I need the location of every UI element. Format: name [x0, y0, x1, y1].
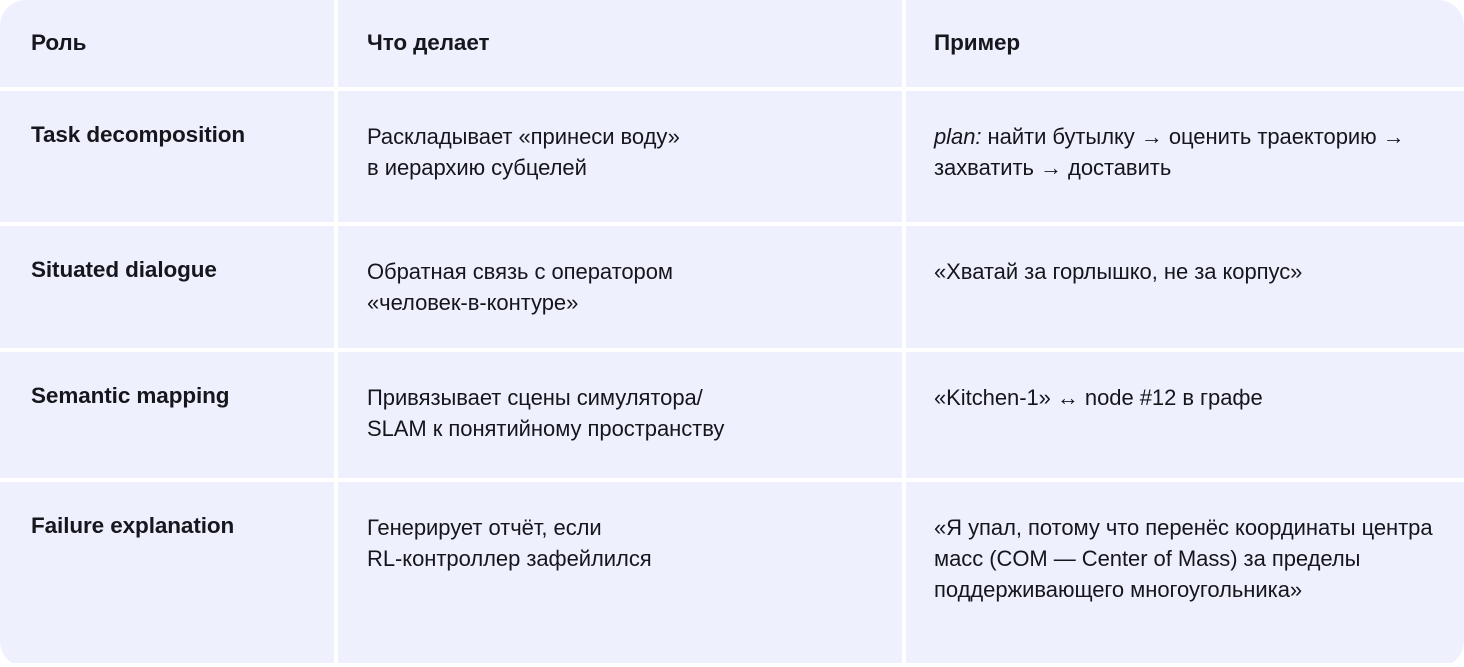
table-row: Обратная связь с оператором «человек-в-к… — [338, 226, 902, 348]
table-row: «Я упал, потому что перенёс координаты ц… — [906, 482, 1464, 663]
cell-example-prefix: plan: — [934, 124, 981, 149]
table-row: «Хватай за горлышко, не за корпус» — [906, 226, 1464, 348]
cell-example: «Хватай за горлышко, не за корпус» — [934, 256, 1302, 287]
table-row: Task decomposition — [0, 91, 334, 222]
table-header-cell-does: Что делает — [338, 0, 902, 87]
table-header-cell-role: Роль — [0, 0, 334, 87]
cell-example: «Kitchen-1» ↔ node #12 в графе — [934, 382, 1263, 413]
table-header-cell-example: Пример — [906, 0, 1464, 87]
cell-example: «Я упал, потому что перенёс координаты ц… — [934, 512, 1448, 606]
table-row: Генерирует отчёт, если RL-контроллер заф… — [338, 482, 902, 663]
cell-role: Failure explanation — [31, 512, 234, 541]
table-row: Situated dialogue — [0, 226, 334, 348]
cell-description: Генерирует отчёт, если RL-контроллер заф… — [367, 512, 652, 574]
column-header-does: Что делает — [367, 29, 489, 58]
cell-example-text: найти бутылку → оценить траекторию → зах… — [934, 124, 1405, 180]
comparison-table-card: Роль Что делает Пример Task decompositio… — [0, 0, 1464, 667]
column-header-role: Роль — [31, 29, 86, 58]
cell-description: Обратная связь с оператором «человек-в-к… — [367, 256, 673, 318]
cell-role: Task decomposition — [31, 121, 245, 150]
cell-role: Situated dialogue — [31, 256, 217, 285]
cell-description: Раскладывает «принеси воду» в иерархию с… — [367, 121, 680, 183]
table-row: Failure explanation — [0, 482, 334, 663]
table-row: plan: найти бутылку → оценить траекторию… — [906, 91, 1464, 222]
table-row: «Kitchen-1» ↔ node #12 в графе — [906, 352, 1464, 478]
cell-role: Semantic mapping — [31, 382, 229, 411]
cell-description: Привязывает сцены симулятора/ SLAM к пон… — [367, 382, 724, 444]
column-header-example: Пример — [934, 29, 1020, 58]
table-row: Привязывает сцены симулятора/ SLAM к пон… — [338, 352, 902, 478]
table-row: Semantic mapping — [0, 352, 334, 478]
comparison-table: Роль Что делает Пример Task decompositio… — [0, 0, 1464, 667]
cell-example: plan: найти бутылку → оценить траекторию… — [934, 121, 1448, 183]
table-row: Раскладывает «принеси воду» в иерархию с… — [338, 91, 902, 222]
